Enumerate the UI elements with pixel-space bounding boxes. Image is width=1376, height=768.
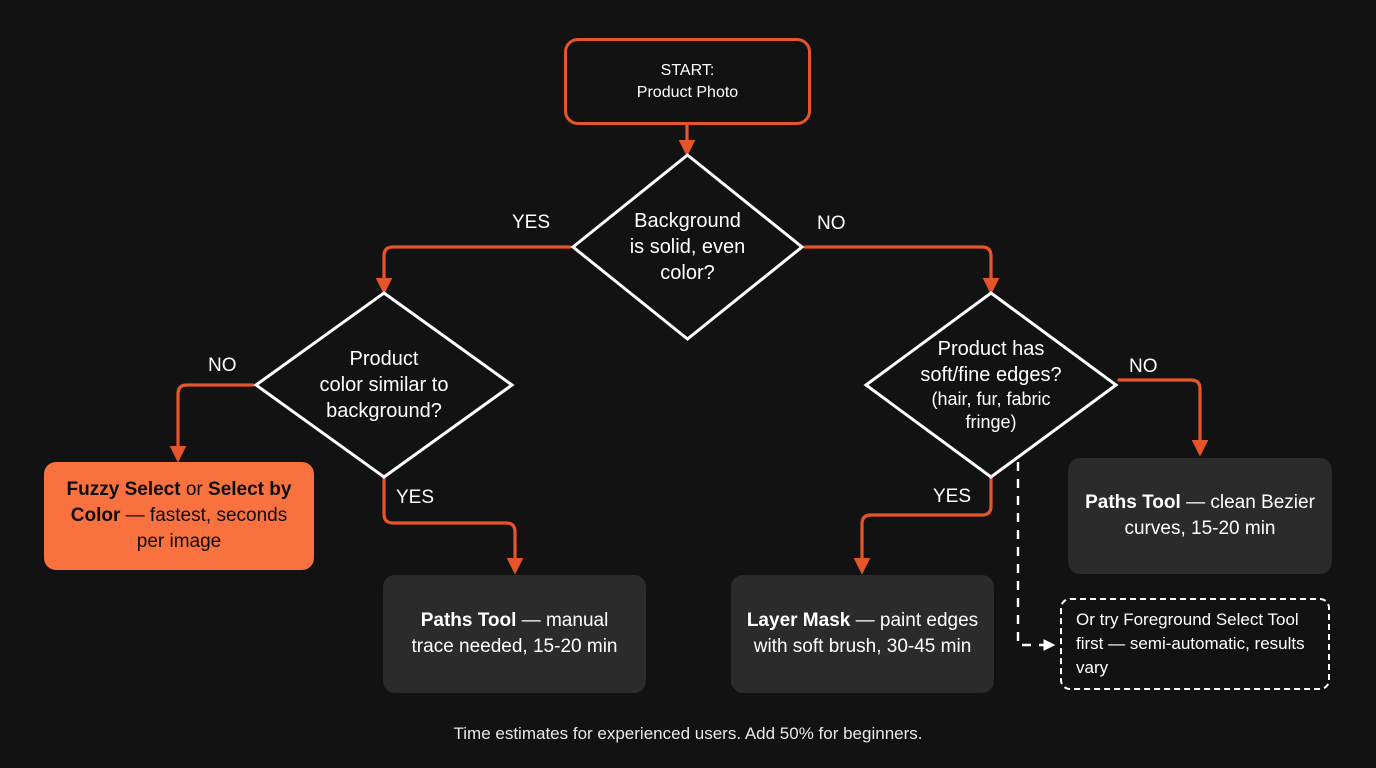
result-fuzzy-text: Fuzzy Select or Select by Color — fastes… <box>58 477 300 556</box>
diamond-shape <box>256 293 512 477</box>
diamond-shape <box>866 293 1116 477</box>
edge-foreground-select-dashed <box>1018 462 1052 645</box>
footer-note: Time estimates for experienced users. Ad… <box>0 724 1376 744</box>
start-title: START: <box>661 60 715 81</box>
result-fuzzy-rest: — fastest, seconds per image <box>120 505 287 552</box>
node-decision-background[interactable]: Background is solid, even color? <box>570 152 805 342</box>
node-start[interactable]: START: Product Photo <box>564 38 811 125</box>
edge-soft-no <box>1119 380 1200 452</box>
edge-background-yes <box>384 247 570 290</box>
diamond-shape <box>573 155 802 339</box>
node-result-layer-mask[interactable]: Layer Mask — paint edges with soft brush… <box>731 575 994 693</box>
result-layer-mask-bold: Layer Mask <box>747 610 851 631</box>
result-paths-clean-text: Paths Tool — clean Bezier curves, 15-20 … <box>1082 490 1318 542</box>
edge-label-color-no: NO <box>208 355 237 377</box>
result-paths-manual-text: Paths Tool — manual trace needed, 15-20 … <box>397 608 632 660</box>
node-result-paths-clean[interactable]: Paths Tool — clean Bezier curves, 15-20 … <box>1068 458 1332 574</box>
flowchart-canvas: START: Product Photo Background is solid… <box>0 0 1376 768</box>
result-paths-manual-bold: Paths Tool <box>421 610 517 631</box>
edge-label-background-no: NO <box>817 213 846 235</box>
edge-color-no <box>178 385 253 458</box>
result-fuzzy-mid: or <box>181 479 208 500</box>
edge-label-color-yes: YES <box>396 487 434 509</box>
node-result-fuzzy-select[interactable]: Fuzzy Select or Select by Color — fastes… <box>44 462 314 570</box>
start-subtitle: Product Photo <box>637 82 738 103</box>
node-note-foreground-select[interactable]: Or try Foreground Select Tool first — se… <box>1060 598 1330 690</box>
result-layer-mask-text: Layer Mask — paint edges with soft brush… <box>745 608 980 660</box>
edge-label-soft-no: NO <box>1129 356 1158 378</box>
edge-label-background-yes: YES <box>512 212 550 234</box>
result-fuzzy-bold1: Fuzzy Select <box>67 479 181 500</box>
edge-label-soft-yes: YES <box>933 486 971 508</box>
node-decision-color-similar[interactable]: Product color similar to background? <box>253 290 515 480</box>
result-paths-clean-bold: Paths Tool <box>1085 492 1181 513</box>
edge-background-no <box>805 247 991 290</box>
edge-soft-yes <box>862 467 991 570</box>
node-decision-soft-edges[interactable]: Product has soft/fine edges? (hair, fur,… <box>863 290 1119 480</box>
node-result-paths-manual[interactable]: Paths Tool — manual trace needed, 15-20 … <box>383 575 646 693</box>
note-foreground-select-text: Or try Foreground Select Tool first — se… <box>1076 608 1314 680</box>
